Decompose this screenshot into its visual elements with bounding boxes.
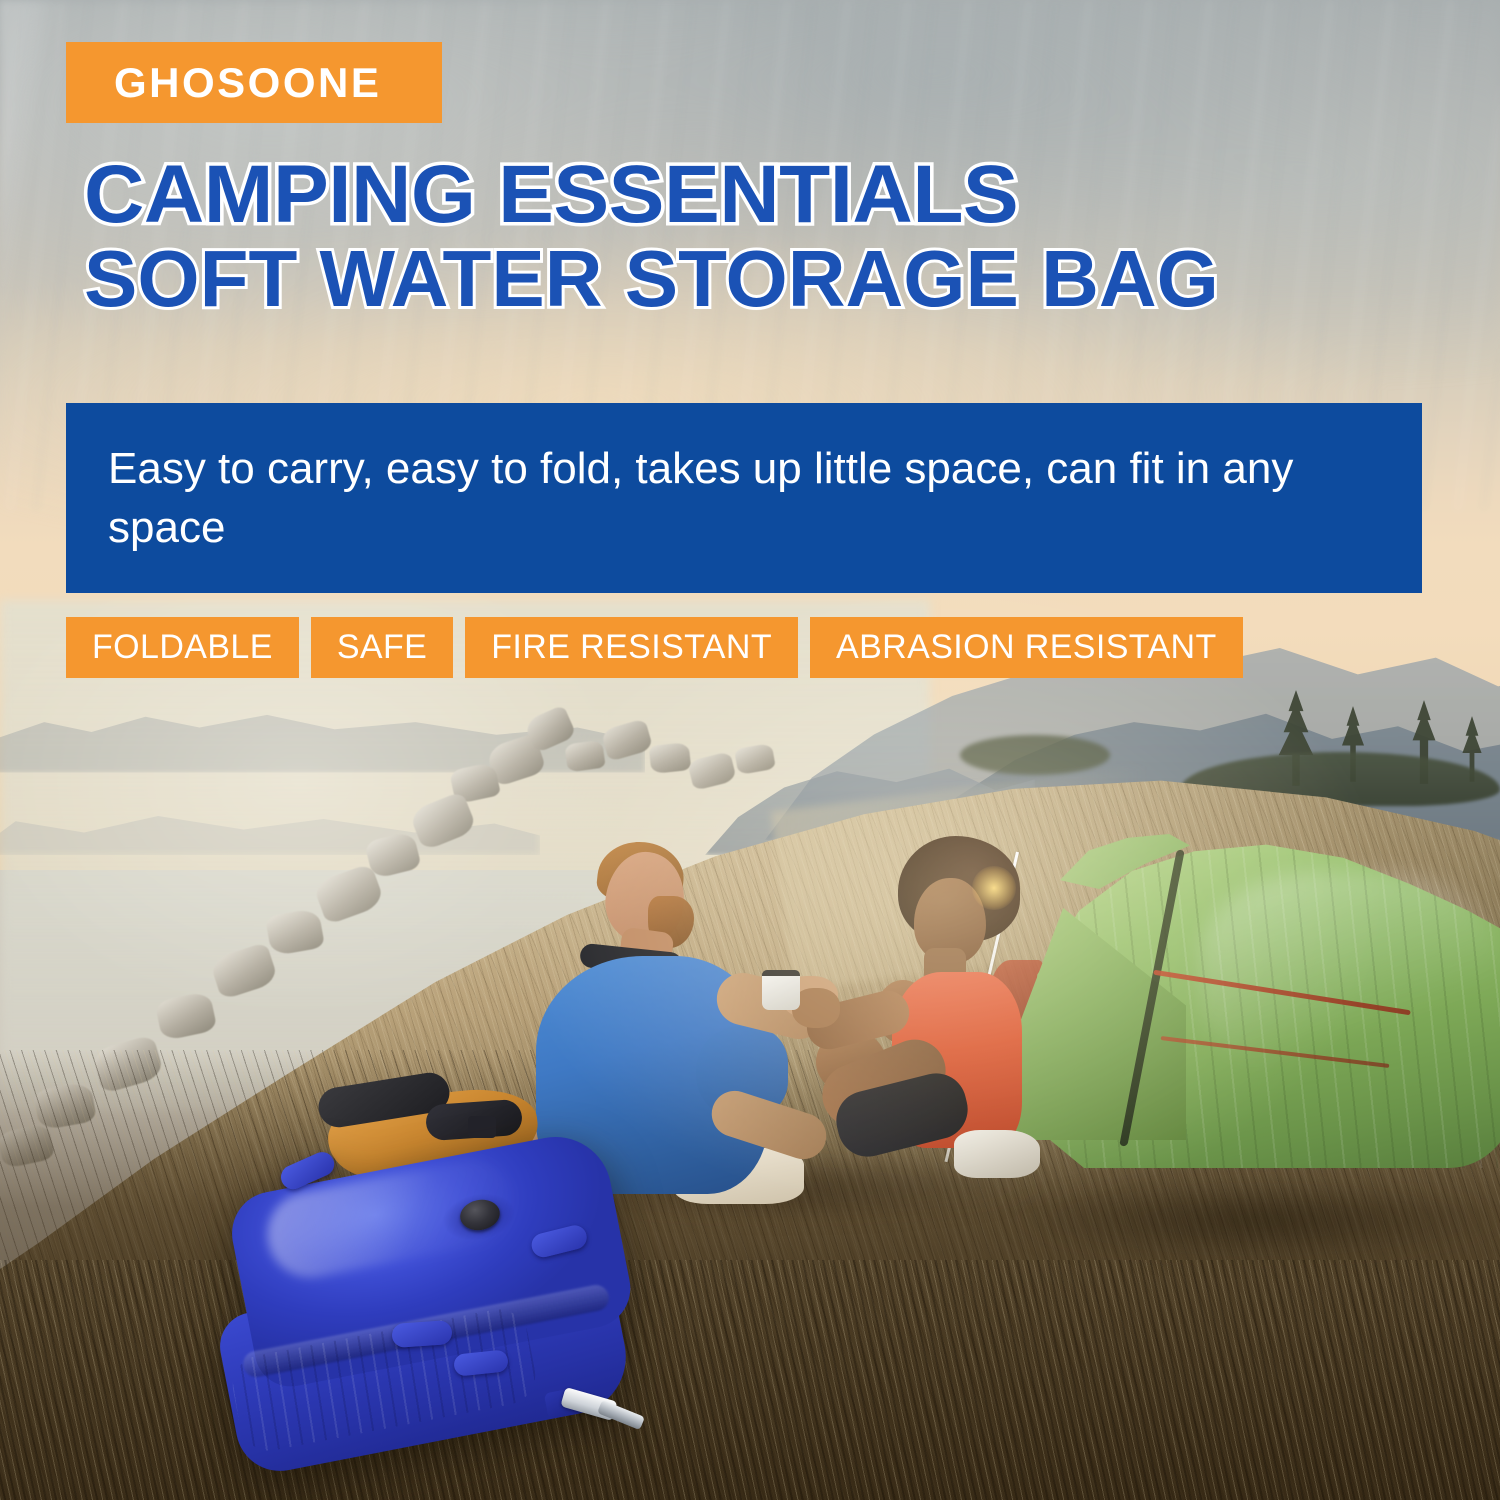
woman-shoe xyxy=(954,1130,1040,1178)
camping-tent xyxy=(1000,812,1500,1232)
feature-tag-row: FOLDABLE SAFE FIRE RESISTANT ABRASION RE… xyxy=(66,617,1243,678)
brand-badge: GHOSOONE xyxy=(66,42,442,123)
headline-block: CAMPING ESSENTIALS SOFT WATER STORAGE BA… xyxy=(84,156,1424,318)
product-marketing-image: GHOSOONE CAMPING ESSENTIALS SOFT WATER S… xyxy=(0,0,1500,1500)
headline-line-2: SOFT WATER STORAGE BAG xyxy=(84,241,1424,318)
brand-name: GHOSOONE xyxy=(66,59,381,107)
bush xyxy=(960,735,1110,775)
feature-tag-foldable: FOLDABLE xyxy=(66,617,299,678)
feature-tag-abrasion-resistant: ABRASION RESISTANT xyxy=(810,617,1243,678)
water-storage-bag-product xyxy=(226,1162,636,1452)
feature-banner: Easy to carry, easy to fold, takes up li… xyxy=(66,403,1422,593)
backpack-buckle xyxy=(468,1116,496,1138)
bag-handle xyxy=(391,1320,453,1348)
headline-line-1: CAMPING ESSENTIALS xyxy=(84,156,1451,235)
drinking-cup xyxy=(762,970,800,1010)
tent-highlight xyxy=(1200,872,1500,1082)
feature-banner-text: Easy to carry, easy to fold, takes up li… xyxy=(66,439,1422,558)
sun-glow-hair xyxy=(972,866,1016,910)
feature-tag-safe: SAFE xyxy=(311,617,453,678)
feature-tag-fire-resistant: FIRE RESISTANT xyxy=(465,617,798,678)
